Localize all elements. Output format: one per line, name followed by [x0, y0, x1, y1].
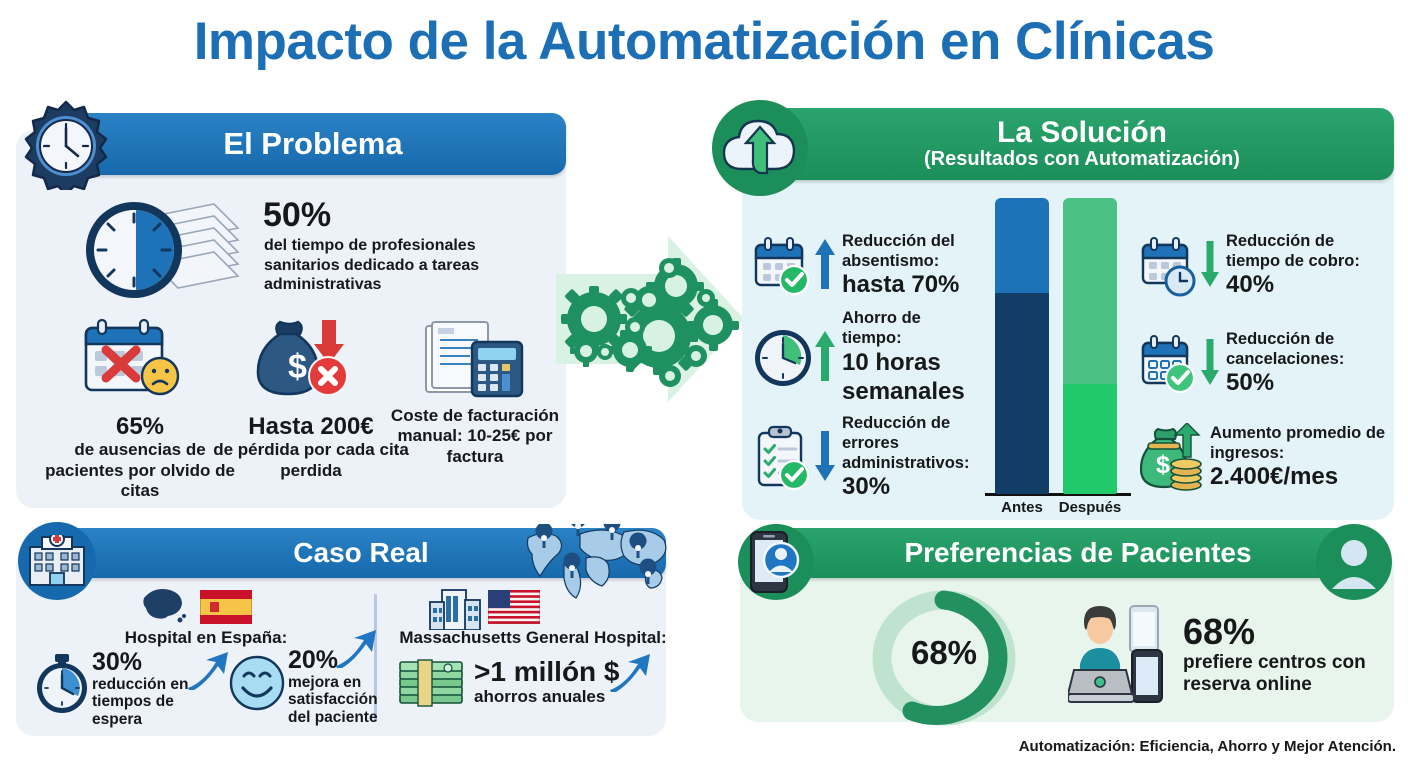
solution-left-item-1-value: hasta 70%: [842, 271, 959, 298]
stopwatch-icon: [32, 652, 92, 714]
caso-usa-subtitle: Massachusetts General Hospital:: [388, 628, 678, 648]
bar-antes-segment-bottom: [995, 293, 1049, 494]
person-laptop-phones-icon: [1068, 602, 1186, 714]
cash-stack-icon: [396, 658, 470, 714]
solution-left-item-2: Ahorro de tiempo: 10 horas semanales: [752, 318, 982, 398]
solution-left-item-1-text: Reducción del absentismo: hasta 70%: [842, 232, 982, 300]
money-bag-coins-icon: $: [1140, 423, 1204, 493]
infographic-canvas: Impacto de la Automatización en Clínicas…: [0, 0, 1408, 768]
problem-cell-2: Hasta 200€ de pérdida por cada cita perd…: [212, 414, 410, 481]
before-after-bar-chart: Antes Después: [985, 198, 1131, 516]
bar-despues-segment-bottom: [1063, 384, 1117, 494]
calendar-check-green-icon: [1140, 333, 1200, 395]
arrow-down-green-icon: [1200, 337, 1222, 392]
solution-right-item-2: Reducción de cancelaciones: 50%: [1140, 326, 1390, 402]
arrow-up-blue-icon: [814, 237, 838, 296]
problem-cell-3-body: manual: 10-25€ por factura: [390, 426, 560, 467]
money-bag-down-icon: $: [244, 316, 354, 402]
preference-stat-text: prefiere centros con reserva online: [1183, 652, 1408, 697]
preferences-header: Preferencias de Pacientes: [778, 528, 1378, 578]
problem-cell-3-headline: Coste de facturación: [390, 406, 560, 426]
bar-despues-segment-top: [1063, 198, 1117, 384]
hospital-icon: [18, 522, 96, 600]
preferences-header-label: Preferencias de Pacientes: [904, 537, 1251, 569]
solution-right-item-2-text: Reducción de cancelaciones: 50%: [1226, 330, 1390, 398]
bar-antes: [995, 198, 1049, 494]
solution-left-item-2-label: Ahorro de tiempo:: [842, 309, 921, 347]
solution-left-item-2-value: 10 horas semanales: [842, 349, 965, 405]
invoice-calculator-icon: [420, 318, 530, 400]
arrow-up-blue-icon: [334, 628, 378, 668]
calendar-check-icon: [752, 235, 814, 297]
usa-flag-icon: [488, 590, 540, 624]
caso-spain-stat-1: 30% reducción en tiempos de espera: [92, 650, 200, 729]
svg-text:$: $: [1156, 451, 1170, 479]
bar-despues: [1063, 198, 1117, 494]
solution-right-item-3-value: 2.400€/mes: [1210, 463, 1338, 490]
preference-stat: 68% prefiere centros con reserva online: [1183, 614, 1408, 697]
solution-right-item-3: $ Aumento promedio de ingresos: 2.400€/m…: [1140, 418, 1408, 498]
solution-right-item-2-label: Reducción de cancelaciones:: [1226, 330, 1344, 368]
clipboard-check-icon: [752, 425, 814, 491]
solution-right-item-1-value: 40%: [1226, 271, 1274, 298]
footer-tagline: Automatización: Eficiencia, Ahorro y Mej…: [0, 738, 1396, 755]
user-avatar-icon: [1316, 524, 1392, 600]
arrow-down-blue-icon: [814, 429, 838, 488]
solution-left-item-3-label: Reducción de errores administrativos:: [842, 414, 969, 472]
spain-map-icon: [140, 586, 186, 626]
cloud-upload-icon: [712, 100, 808, 196]
solution-left-item-1: Reducción del absentismo: hasta 70%: [752, 228, 982, 304]
problem-cell-1-body: de ausencias de pacientes por olvido de …: [44, 440, 236, 501]
clock-green-icon: [752, 327, 814, 389]
problem-cell-1: 65% de ausencias de pacientes por olvido…: [44, 414, 236, 502]
arrow-up-blue-icon: [608, 650, 652, 692]
svg-text:$: $: [288, 348, 307, 386]
calendar-x-sad-icon: [78, 318, 198, 398]
solution-left-item-1-label: Reducción del absentismo:: [842, 232, 955, 270]
solution-right-item-1-text: Reducción de tiempo de cobro: 40%: [1226, 232, 1390, 300]
gear-clock-icon: [20, 98, 112, 190]
bar-antes-segment-top: [995, 198, 1049, 293]
spain-flag-icon: [200, 590, 252, 624]
preference-stat-number: 68%: [1183, 614, 1408, 650]
world-map-pins-icon: [520, 524, 670, 600]
caso-spain-stat-1-text: reducción en tiempos de espera: [92, 676, 200, 730]
arrow-down-green-icon: [1200, 239, 1222, 294]
solution-left-item-3: Reducción de errores administrativos: 30…: [752, 416, 984, 500]
solution-header: La Solución (Resultados con Automatizaci…: [770, 108, 1394, 180]
bar-label-antes: Antes: [989, 499, 1055, 516]
caso-real-header-label: Caso Real: [293, 537, 428, 569]
problem-cell-2-body: de pérdida por cada cita perdida: [212, 440, 410, 481]
office-building-icon: [428, 588, 482, 630]
caso-spain-subtitle: Hospital en España:: [96, 628, 316, 648]
solution-header-line1: La Solución: [997, 117, 1167, 149]
solution-left-item-2-text: Ahorro de tiempo: 10 horas semanales: [842, 309, 982, 406]
caso-spain-stat-1-number: 30%: [92, 650, 200, 676]
problem-cell-2-headline: Hasta 200€: [212, 414, 410, 440]
caso-spain-stat-2-text: mejora en satisfacción del paciente: [288, 674, 392, 728]
smiley-face-icon: [228, 654, 286, 712]
preference-donut-value: 68%: [866, 634, 1022, 672]
calendar-clock-icon: [1140, 235, 1200, 297]
problem-header: El Problema: [60, 113, 566, 175]
solution-right-item-3-text: Aumento promedio de ingresos: 2.400€/mes: [1210, 424, 1408, 492]
solution-right-item-3-label: Aumento promedio de ingresos:: [1210, 424, 1385, 462]
problem-hero-text: del tiempo de profesionales sanitarios d…: [264, 236, 544, 295]
solution-right-item-2-value: 50%: [1226, 369, 1274, 396]
solution-header-line2: (Resultados con Automatización): [924, 148, 1240, 171]
phone-user-icon: [738, 524, 814, 600]
arrow-up-green-icon: [814, 329, 838, 388]
problem-cell-3: Coste de facturación manual: 10-25€ por …: [390, 406, 560, 467]
problem-hero-number: 50%: [263, 196, 331, 235]
solution-left-item-3-value: 30%: [842, 473, 890, 500]
page-title: Impacto de la Automatización en Clínicas: [0, 14, 1408, 70]
solution-right-item-1-label: Reducción de tiempo de cobro:: [1226, 232, 1360, 270]
problem-hero-stat: 50% del tiempo de profesionales sanitari…: [78, 196, 548, 306]
solution-right-item-1: Reducción de tiempo de cobro: 40%: [1140, 228, 1390, 304]
problem-header-label: El Problema: [223, 126, 402, 162]
bar-label-despues: Después: [1057, 499, 1123, 516]
problem-cell-1-headline: 65%: [44, 414, 236, 440]
solution-left-item-3-text: Reducción de errores administrativos: 30…: [842, 414, 984, 502]
arrow-gears-icon: [556, 228, 746, 410]
arrow-up-blue-icon: [186, 650, 230, 690]
